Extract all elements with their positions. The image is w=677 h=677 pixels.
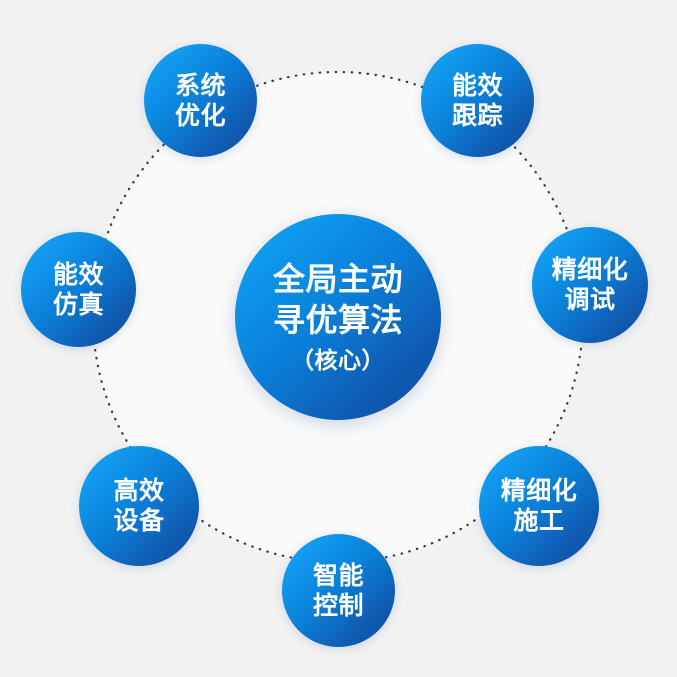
center-node-label: 全局主动 寻优算法 — [273, 259, 403, 341]
diagram-canvas: 全局主动 寻优算法 （核心） 系统 优化 能效 跟踪 精细化 调试 精细化 施工… — [0, 0, 677, 677]
node-label: 能效 跟踪 — [452, 71, 503, 131]
node-refined-commissioning[interactable]: 精细化 调试 — [532, 227, 648, 343]
node-label: 高效 设备 — [113, 476, 164, 536]
node-label: 能效 仿真 — [53, 260, 104, 320]
node-intelligent-control[interactable]: 智能 控制 — [282, 534, 395, 647]
node-energy-efficiency-simulation[interactable]: 能效 仿真 — [21, 232, 136, 347]
node-label: 智能 控制 — [313, 561, 364, 621]
node-refined-construction[interactable]: 精细化 施工 — [479, 446, 599, 566]
node-energy-efficiency-tracking[interactable]: 能效 跟踪 — [421, 44, 534, 157]
node-label: 精细化 施工 — [501, 476, 578, 536]
center-node-sublabel: （核心） — [291, 347, 385, 375]
node-system-optimization[interactable]: 系统 优化 — [144, 44, 257, 157]
center-node[interactable]: 全局主动 寻优算法 （核心） — [235, 214, 441, 420]
node-label: 系统 优化 — [175, 71, 226, 131]
node-high-efficiency-equipment[interactable]: 高效 设备 — [79, 446, 199, 566]
node-label: 精细化 调试 — [552, 255, 629, 315]
